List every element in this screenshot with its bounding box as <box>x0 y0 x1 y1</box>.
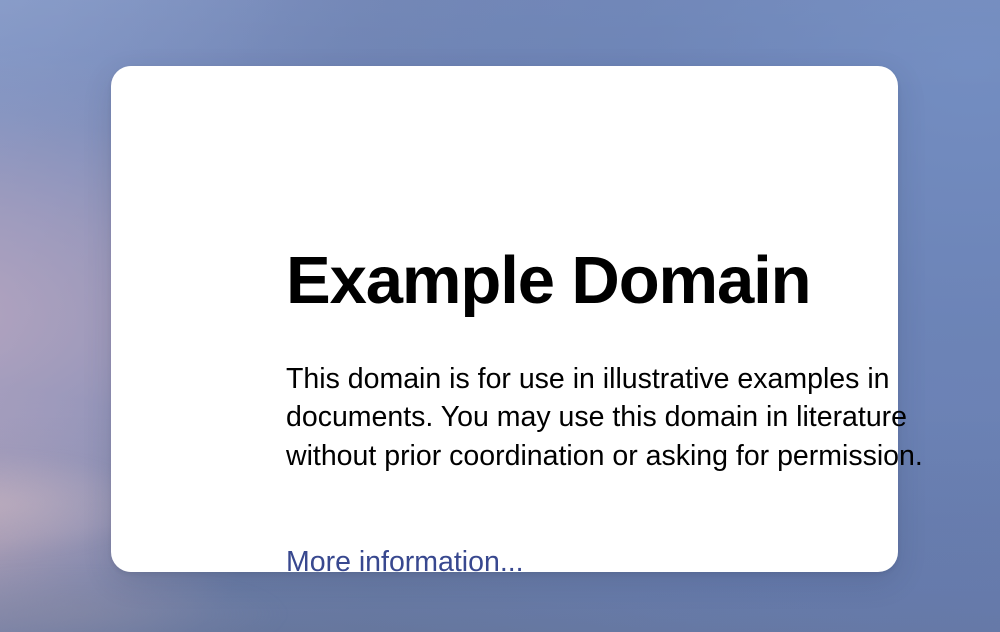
page-title: Example Domain <box>286 245 811 317</box>
description-paragraph: This domain is for use in illustrative e… <box>286 360 954 475</box>
more-information-link[interactable]: More information... <box>286 545 524 579</box>
page-root: Example Domain This domain is for use in… <box>0 0 1000 632</box>
content-card: Example Domain This domain is for use in… <box>111 66 898 572</box>
